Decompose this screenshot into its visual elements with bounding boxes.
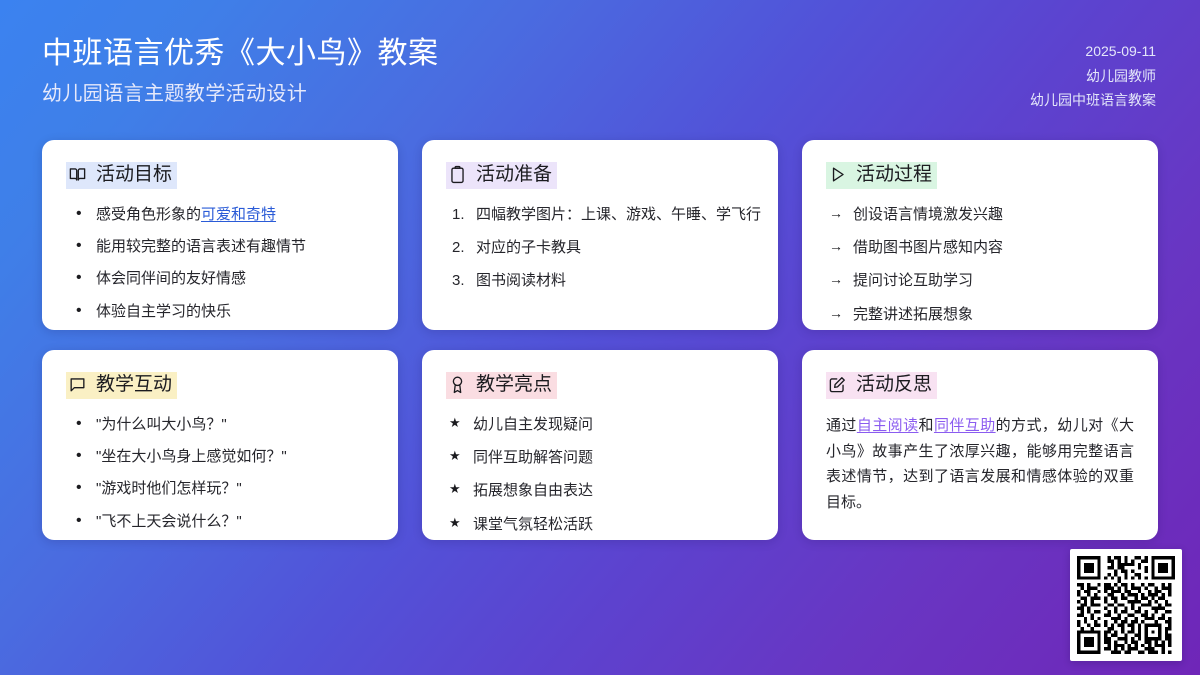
list-item: ★幼儿自主发现疑问 <box>449 413 754 436</box>
star-marker: ★ <box>449 513 461 533</box>
card-title-teaching-highlights: 教学亮点 <box>446 372 557 399</box>
list-item: →提问讨论互助学习 <box>829 269 1134 292</box>
play-triangle-icon <box>828 165 847 184</box>
star-marker: ★ <box>449 413 461 433</box>
arrow-marker: → <box>829 269 843 291</box>
edit-square-icon <box>828 375 847 394</box>
list-item: →借助图书图片感知内容 <box>829 236 1134 259</box>
speech-bubble-icon <box>68 375 87 394</box>
card-activity-process: 活动过程 →创设语言情境激发兴趣 →借助图书图片感知内容 →提问讨论互助学习 →… <box>802 140 1158 330</box>
preparation-list: 四幅教学图片：上课、游戏、午睡、学飞行 对应的子卡教具 图书阅读材料 <box>446 203 754 293</box>
reflection-paragraph: 通过自主阅读和同伴互助的方式，幼儿对《大小鸟》故事产生了浓厚兴趣，能够用完整语言… <box>826 413 1134 516</box>
link-cute-and-strange[interactable]: 可爱和奇特 <box>201 206 276 223</box>
page-header: 中班语言优秀《大小鸟》教案 幼儿园语言主题教学活动设计 2025-09-11 幼… <box>0 0 1200 140</box>
card-grid: 活动目标 感受角色形象的可爱和奇特 能用较完整的语言表述有趣情节 体会同伴间的友… <box>0 140 1200 540</box>
list-item: →创设语言情境激发兴趣 <box>829 203 1134 226</box>
list-item: ★课堂气氛轻松活跃 <box>449 513 754 536</box>
link-independent-reading[interactable]: 自主阅读 <box>857 417 919 434</box>
card-title-activity-process: 活动过程 <box>826 162 937 189</box>
interaction-list: "为什么叫大小鸟？" "坐在大小鸟身上感觉如何？" "游戏时他们怎样玩？" "飞… <box>66 413 374 533</box>
process-list: →创设语言情境激发兴趣 →借助图书图片感知内容 →提问讨论互助学习 →完整讲述拓… <box>826 203 1134 326</box>
arrow-marker: → <box>829 303 843 325</box>
header-title-block: 中班语言优秀《大小鸟》教案 幼儿园语言主题教学活动设计 <box>42 34 439 109</box>
page-title: 中班语言优秀《大小鸟》教案 <box>42 34 439 75</box>
card-activity-preparation: 活动准备 四幅教学图片：上课、游戏、午睡、学飞行 对应的子卡教具 图书阅读材料 <box>422 140 778 330</box>
list-item: 体会同伴间的友好情感 <box>70 267 374 290</box>
list-item: →完整讲述拓展想象 <box>829 303 1134 326</box>
card-activity-goals: 活动目标 感受角色形象的可爱和奇特 能用较完整的语言表述有趣情节 体会同伴间的友… <box>42 140 398 330</box>
card-teaching-highlights: 教学亮点 ★幼儿自主发现疑问 ★同伴互助解答问题 ★拓展想象自由表达 ★课堂气氛… <box>422 350 778 540</box>
list-item: ★拓展想象自由表达 <box>449 479 754 502</box>
card-teaching-interaction: 教学互动 "为什么叫大小鸟？" "坐在大小鸟身上感觉如何？" "游戏时他们怎样玩… <box>42 350 398 540</box>
clipboard-icon <box>448 165 467 184</box>
list-item: "坐在大小鸟身上感觉如何？" <box>70 445 374 468</box>
list-item: 能用较完整的语言表述有趣情节 <box>70 235 374 258</box>
card-title-activity-goals: 活动目标 <box>66 162 177 189</box>
meta-category: 幼儿园中班语言教案 <box>1030 88 1156 113</box>
award-medal-icon <box>448 375 467 394</box>
goals-list: 感受角色形象的可爱和奇特 能用较完整的语言表述有趣情节 体会同伴间的友好情感 体… <box>66 203 374 323</box>
card-title-text: 教学互动 <box>96 373 172 397</box>
header-meta-block: 2025-09-11 幼儿园教师 幼儿园中班语言教案 <box>1030 34 1156 113</box>
highlights-list: ★幼儿自主发现疑问 ★同伴互助解答问题 ★拓展想象自由表达 ★课堂气氛轻松活跃 <box>446 413 754 536</box>
list-item: 感受角色形象的可爱和奇特 <box>70 203 374 226</box>
list-item: 体验自主学习的快乐 <box>70 300 374 323</box>
star-marker: ★ <box>449 479 461 499</box>
star-marker: ★ <box>449 446 461 466</box>
list-item: 四幅教学图片：上课、游戏、午睡、学飞行 <box>450 203 754 226</box>
qr-code[interactable] <box>1070 549 1182 661</box>
card-title-text: 活动反思 <box>856 373 932 397</box>
list-item: "为什么叫大小鸟？" <box>70 413 374 436</box>
list-item: "飞不上天会说什么？" <box>70 510 374 533</box>
card-title-text: 教学亮点 <box>476 373 552 397</box>
meta-author: 幼儿园教师 <box>1086 64 1156 89</box>
link-peer-assistance[interactable]: 同伴互助 <box>934 417 996 434</box>
list-item: "游戏时他们怎样玩？" <box>70 477 374 500</box>
card-title-activity-reflection: 活动反思 <box>826 372 937 399</box>
meta-date: 2025-09-11 <box>1085 39 1156 64</box>
card-activity-reflection: 活动反思 通过自主阅读和同伴互助的方式，幼儿对《大小鸟》故事产生了浓厚兴趣，能够… <box>802 350 1158 540</box>
list-item: ★同伴互助解答问题 <box>449 446 754 469</box>
page-subtitle: 幼儿园语言主题教学活动设计 <box>42 79 439 109</box>
list-item: 对应的子卡教具 <box>450 236 754 259</box>
open-book-icon <box>68 165 87 184</box>
arrow-marker: → <box>829 203 843 225</box>
card-title-text: 活动准备 <box>476 163 552 187</box>
card-title-teaching-interaction: 教学互动 <box>66 372 177 399</box>
card-title-text: 活动目标 <box>96 163 172 187</box>
card-title-text: 活动过程 <box>856 163 932 187</box>
arrow-marker: → <box>829 236 843 258</box>
qr-code-image <box>1077 556 1175 654</box>
card-title-activity-preparation: 活动准备 <box>446 162 557 189</box>
list-item: 图书阅读材料 <box>450 269 754 292</box>
